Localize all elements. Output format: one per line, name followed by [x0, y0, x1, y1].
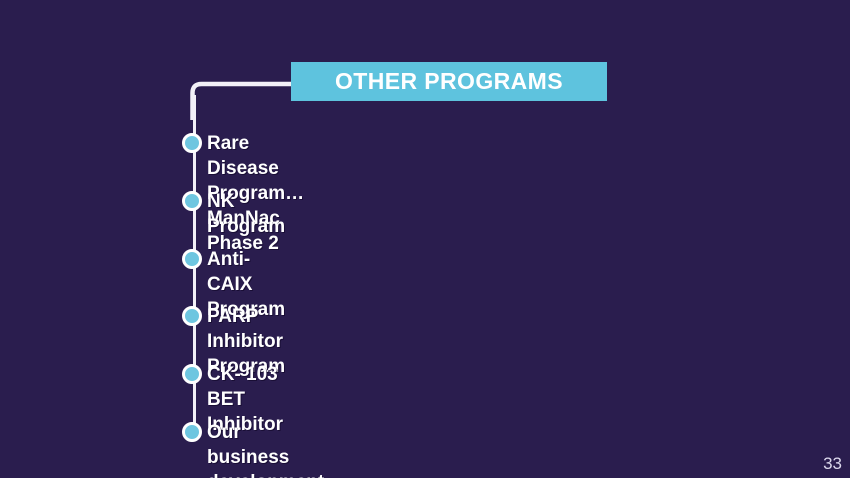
timeline-bullet-icon [182, 364, 202, 384]
slide-canvas: OTHER PROGRAMS Rare Disease Program…ManN… [0, 0, 850, 478]
timeline-bullet-icon [182, 249, 202, 269]
elbow-connector-line [186, 74, 298, 120]
timeline-bullet-icon [182, 133, 202, 153]
section-header-title: OTHER PROGRAMS [335, 70, 563, 93]
timeline-item-label: NK Program [207, 189, 285, 239]
section-header-banner: OTHER PROGRAMS [291, 62, 607, 101]
page-number: 33 [823, 455, 842, 472]
timeline-bullet-icon [182, 191, 202, 211]
timeline-bullet-icon [182, 306, 202, 326]
timeline-item-label: Our business development engine identifi… [207, 420, 328, 478]
timeline-bullet-icon [182, 422, 202, 442]
